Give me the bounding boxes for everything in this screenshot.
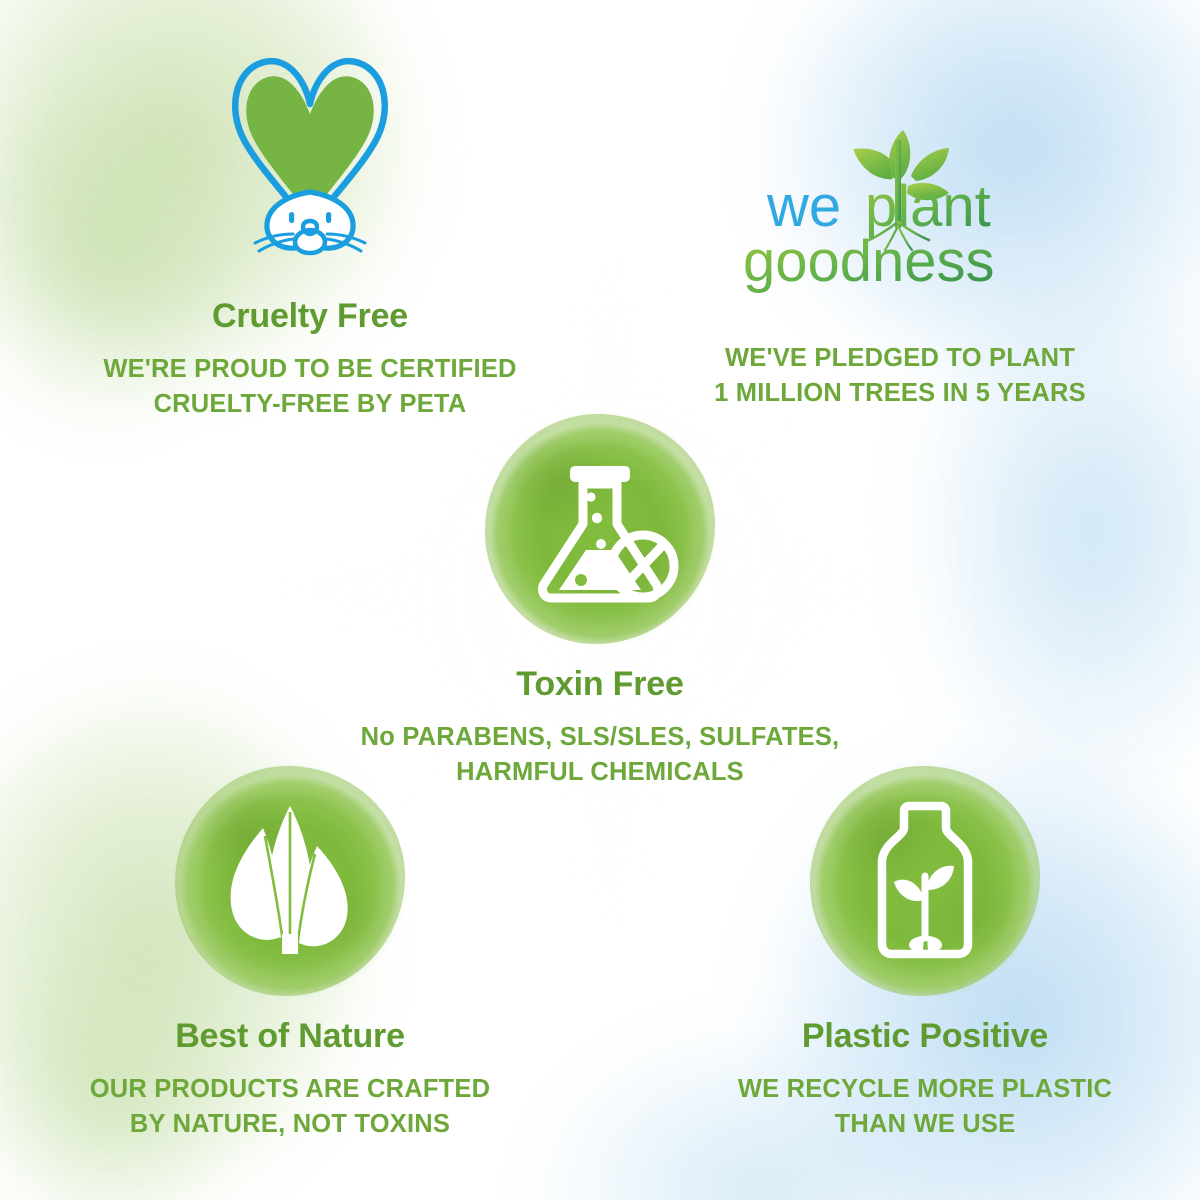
badge-toxin-free: Toxin Free No PARABENS, SLS/SLES, SULFAT…	[320, 414, 880, 790]
badge-title-plastic-positive: Plastic Positive	[665, 1018, 1185, 1055]
badge-we-plant-goodness: we plant goodness WE'VE PLEDGED TO PLANT…	[640, 118, 1160, 410]
badge-cruelty-free: Cruelty Free WE'RE PROUD TO BE CERTIFIED…	[30, 42, 590, 422]
badge-description-cruelty-free: WE'RE PROUD TO BE CERTIFIED CRUELTY-FREE…	[30, 352, 590, 421]
three-leaves-icon	[175, 766, 405, 996]
peta-bunny-heart-icon	[215, 42, 405, 272]
bottle-sprout-icon	[810, 766, 1040, 996]
badge-title-cruelty-free: Cruelty Free	[30, 298, 590, 335]
badge-plastic-positive: Plastic Positive WE RECYCLE MORE PLASTIC…	[665, 766, 1185, 1142]
logo-text-goodness: goodness	[743, 229, 995, 293]
badge-title-toxin-free: Toxin Free	[320, 666, 880, 703]
we-plant-goodness-logo-icon: we plant goodness	[735, 118, 1065, 293]
badge-description-best-of-nature: OUR PRODUCTS ARE CRAFTED BY NATURE, NOT …	[10, 1072, 570, 1141]
badge-description-we-plant-goodness: WE'VE PLEDGED TO PLANT 1 MILLION TREES I…	[640, 341, 1160, 410]
badge-best-of-nature: Best of Nature OUR PRODUCTS ARE CRAFTED …	[10, 766, 570, 1142]
infographic-page: Cruelty Free WE'RE PROUD TO BE CERTIFIED…	[0, 0, 1200, 1200]
badge-title-best-of-nature: Best of Nature	[10, 1018, 570, 1055]
flask-no-toxins-icon	[485, 414, 715, 644]
badge-description-plastic-positive: WE RECYCLE MORE PLASTIC THAN WE USE	[665, 1072, 1185, 1141]
